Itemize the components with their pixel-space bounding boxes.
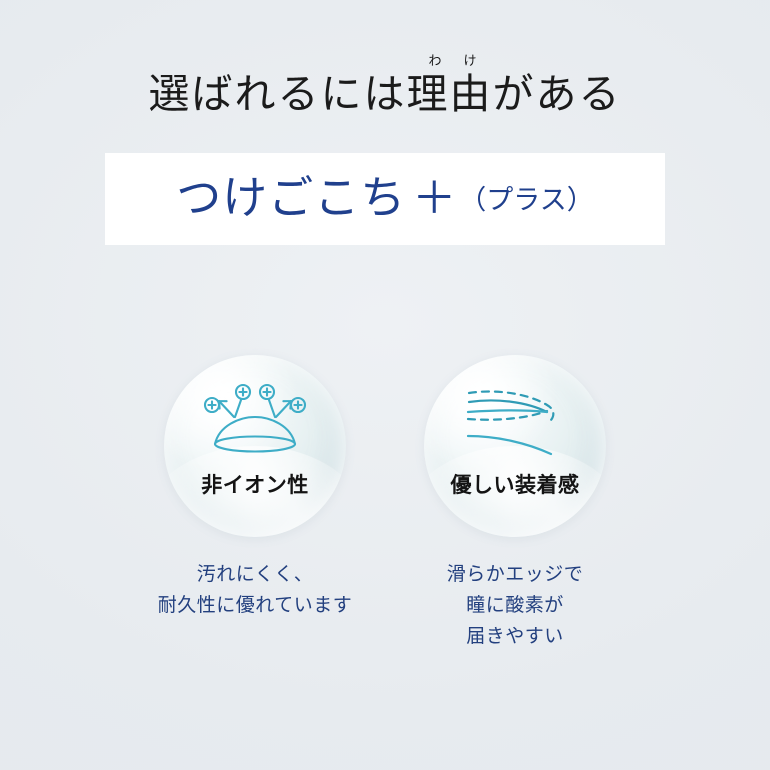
headline-part-before: 選ばれるには	[149, 71, 407, 117]
caption-line: 瞳に酸素が	[447, 590, 584, 621]
feature-caption: 汚れにくく、 耐久性に優れています	[158, 559, 352, 621]
headline-ruby-group: わけ理由	[407, 74, 493, 115]
caption-line: 汚れにくく、	[158, 559, 352, 590]
brand-banner-text: つけごこち＋（プラス）	[176, 176, 593, 221]
promo-page: 選ばれるにはわけ理由がある つけごこち＋（プラス）	[0, 0, 770, 770]
brand-name: つけごこち	[176, 176, 406, 221]
feature-caption: 滑らかエッジで 瞳に酸素が 届きやすい	[447, 559, 584, 651]
headline-furigana: わけ	[407, 54, 493, 67]
non-ionic-lens-icon	[195, 381, 315, 459]
page-headline: 選ばれるにはわけ理由がある	[0, 74, 770, 115]
smooth-edge-lens-icon	[455, 381, 575, 459]
caption-line: 滑らかエッジで	[447, 559, 584, 590]
feature-list: 非イオン性 汚れにくく、 耐久性に優れています	[0, 355, 770, 651]
feature-bubble: 非イオン性	[164, 355, 346, 537]
feature-bubble: 優しい装着感	[424, 355, 606, 537]
feature-item-non-ionic: 非イオン性 汚れにくく、 耐久性に優れています	[164, 355, 346, 651]
headline-ruby-base: 理由	[407, 74, 493, 115]
feature-item-smooth-edge: 優しい装着感 滑らかエッジで 瞳に酸素が 届きやすい	[424, 355, 606, 651]
brand-banner: つけごこち＋（プラス）	[105, 153, 665, 245]
brand-name-reading: （プラス）	[459, 187, 593, 214]
caption-line: 耐久性に優れています	[158, 590, 352, 621]
headline-part-after: がある	[493, 71, 622, 117]
feature-label: 優しい装着感	[451, 469, 580, 499]
plus-symbol: ＋	[412, 177, 457, 221]
feature-label: 非イオン性	[201, 469, 309, 499]
caption-line: 届きやすい	[447, 621, 584, 652]
